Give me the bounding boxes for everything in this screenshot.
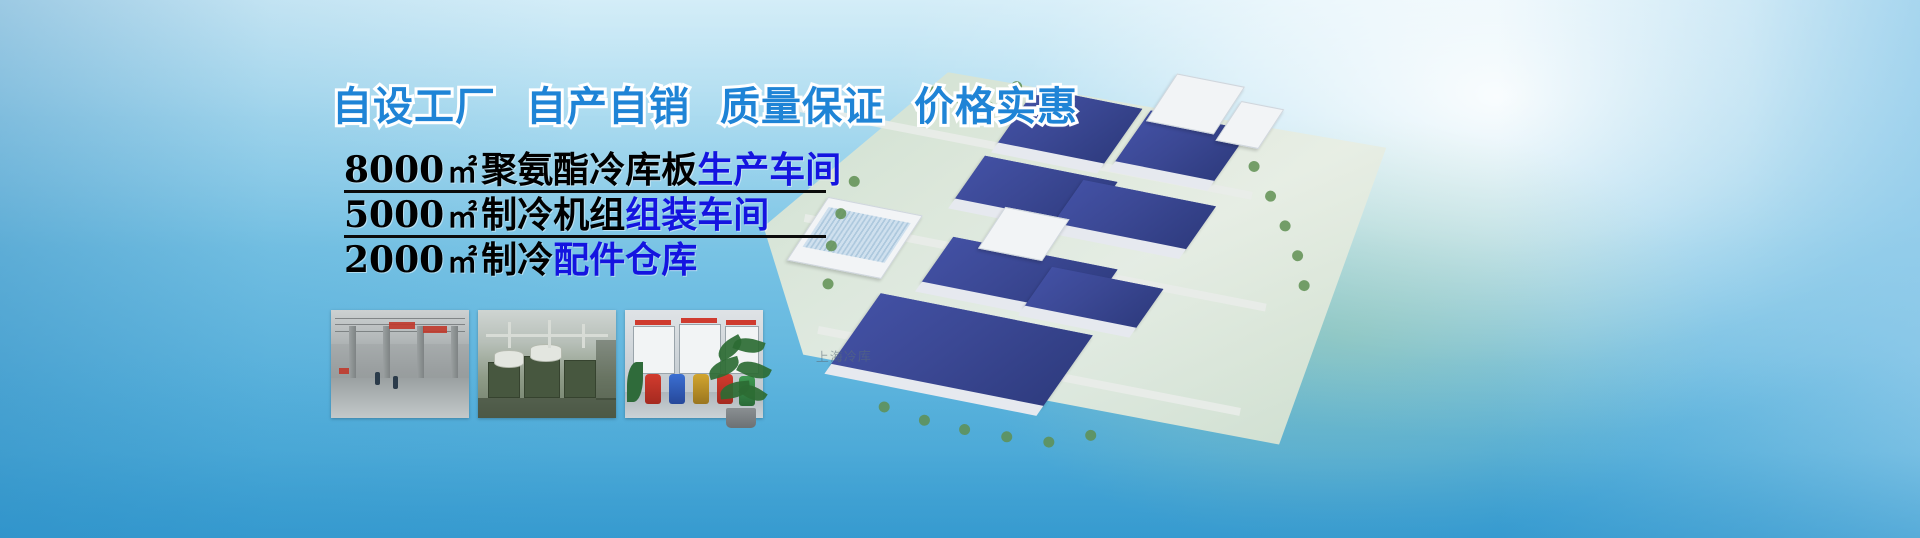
photo-factory-workshop (331, 310, 469, 418)
feature-unit: ㎡ (447, 200, 477, 235)
tree-icon (1043, 436, 1054, 447)
tree-icon (1085, 430, 1096, 441)
feature-unit: ㎡ (447, 245, 477, 280)
feature-text: 聚氨酯冷库板 (481, 149, 697, 191)
feature-line-list: 8000㎡聚氨酯冷库板生产车间 5000㎡制冷机组组装车间 2000㎡制冷配件仓… (344, 148, 841, 283)
tree-icon (959, 424, 970, 435)
headline-segment-3: 质量保证 (720, 84, 884, 130)
headline-segment-4: 价格实惠 (914, 84, 1078, 130)
feature-highlight: 配件仓库 (553, 239, 697, 281)
feature-unit: ㎡ (447, 155, 477, 190)
aerial-watermark: 上海冷库 (816, 346, 872, 366)
feature-highlight: 生产车间 (697, 149, 841, 191)
feature-line: 8000㎡聚氨酯冷库板生产车间 (344, 148, 841, 193)
headline-segment-2: 自产自销 (526, 84, 690, 130)
feature-area: 2000 (344, 239, 444, 281)
feature-highlight: 组装车间 (625, 194, 769, 236)
feature-area: 8000 (344, 149, 444, 191)
potted-plant-decoration (700, 336, 780, 428)
feature-line: 2000㎡制冷配件仓库 (344, 238, 841, 283)
headline: 自设工厂自产自销质量保证价格实惠 (332, 74, 1078, 132)
promotional-banner: 上海冷库 自设工厂自产自销质量保证价格实惠 8000㎡聚氨酯冷库板生产车间 50… (0, 0, 1920, 538)
feature-area: 5000 (344, 194, 444, 236)
tree-icon (1001, 431, 1012, 442)
feature-text: 制冷机组 (481, 194, 625, 236)
photo-compressor-units (478, 310, 616, 418)
photo-strip (331, 310, 763, 418)
headline-segment-1: 自设工厂 (332, 84, 496, 130)
feature-text: 制冷 (481, 239, 553, 281)
tree-icon (879, 401, 890, 412)
feature-line: 5000㎡制冷机组组装车间 (344, 193, 841, 238)
tree-icon (919, 415, 930, 426)
